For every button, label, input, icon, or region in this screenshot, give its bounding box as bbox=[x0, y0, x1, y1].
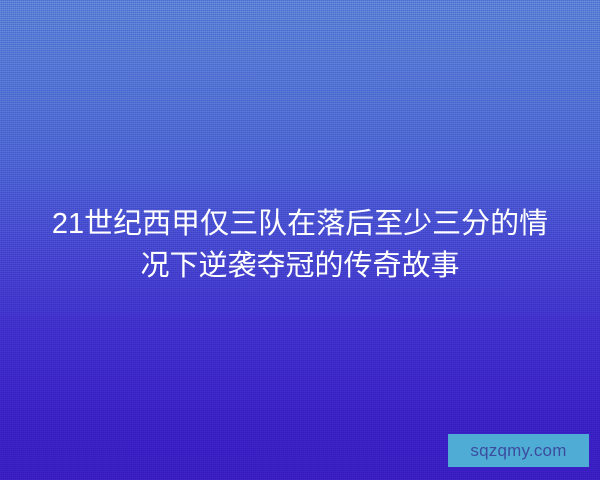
title-line-1: 21世纪西甲仅三队在落后至少三分的情 bbox=[36, 203, 564, 245]
title-card: 21世纪西甲仅三队在落后至少三分的情 况下逆袭夺冠的传奇故事 sqzqmy.co… bbox=[0, 0, 600, 480]
watermark-label: sqzqmy.com bbox=[470, 442, 566, 459]
title-line-2: 况下逆袭夺冠的传奇故事 bbox=[36, 245, 564, 287]
watermark-badge: sqzqmy.com bbox=[448, 434, 589, 467]
page-title: 21世纪西甲仅三队在落后至少三分的情 况下逆袭夺冠的传奇故事 bbox=[0, 203, 600, 287]
